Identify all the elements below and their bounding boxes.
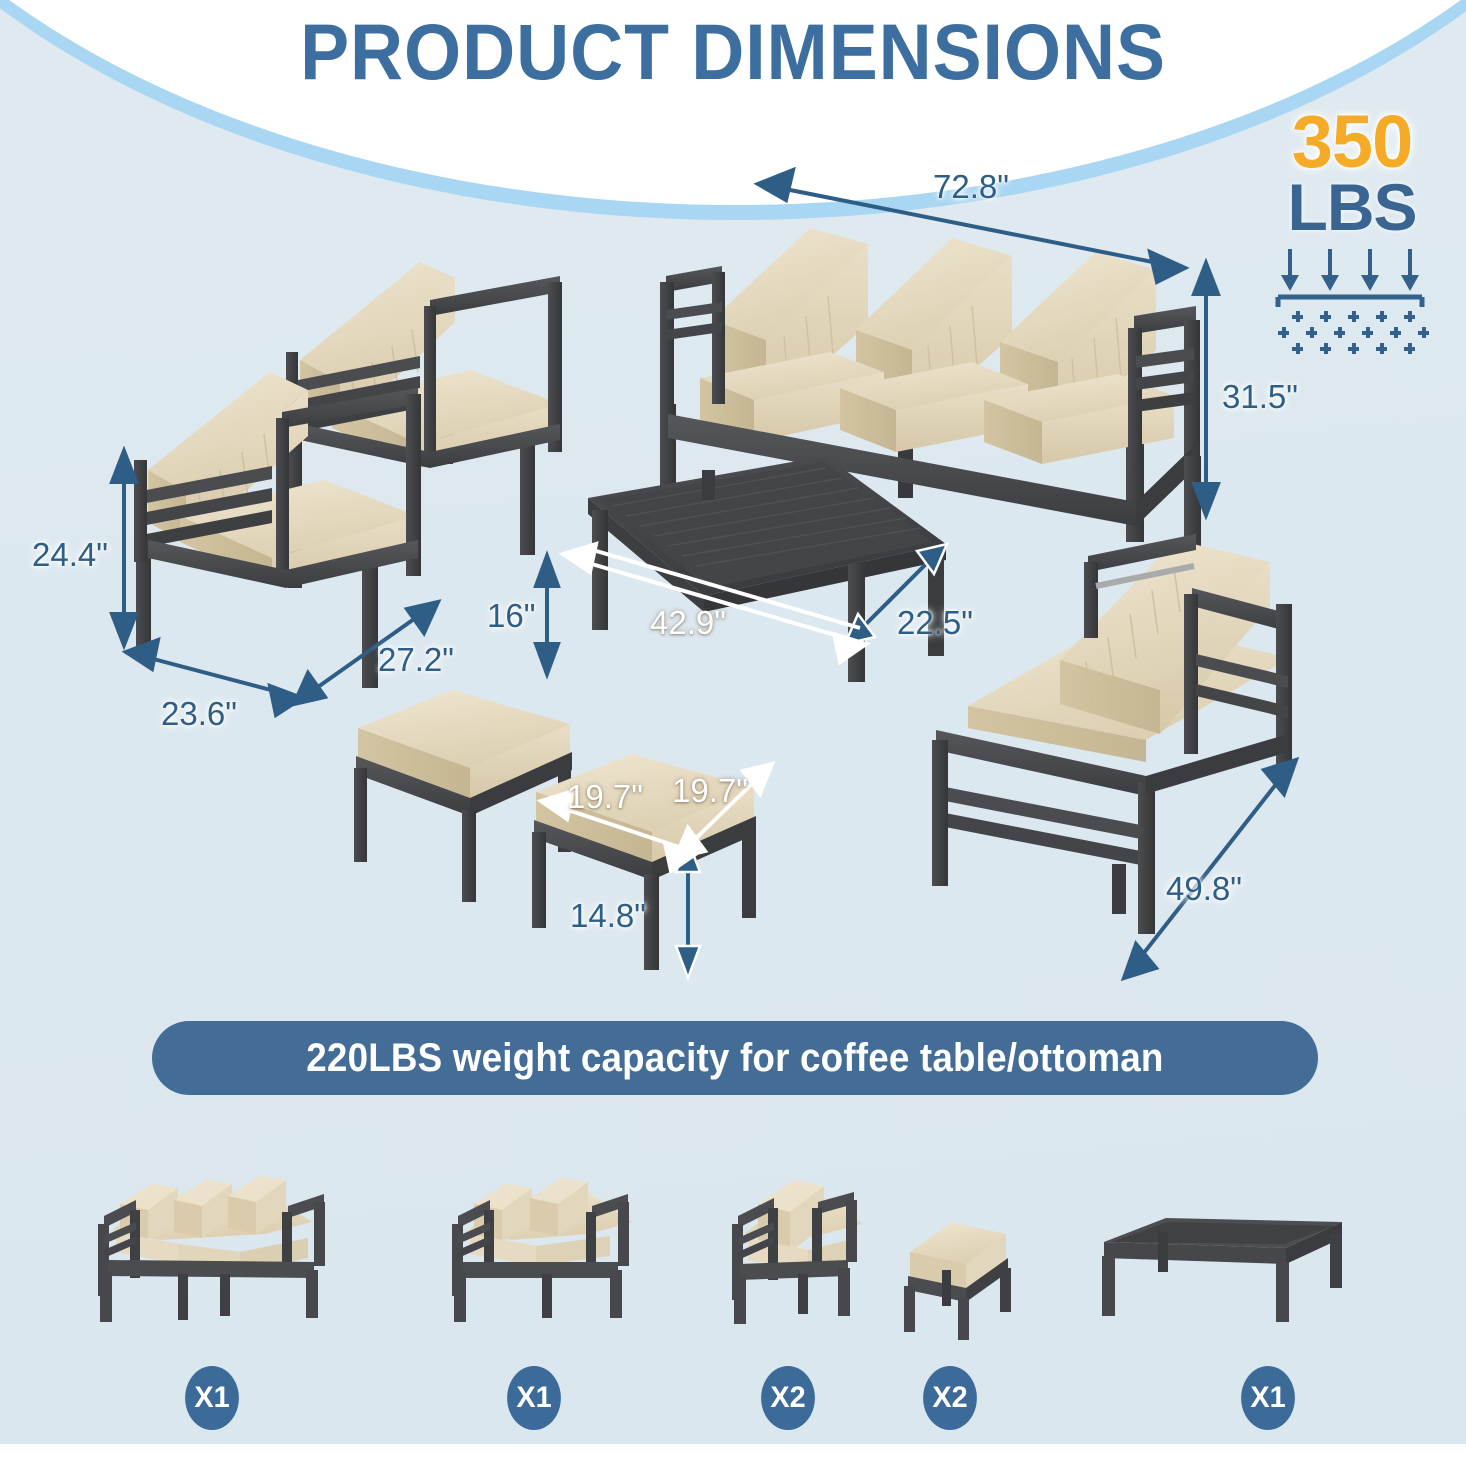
weight-badge-number: 350 <box>1252 108 1452 176</box>
weight-capacity-banner: 220LBS weight capacity for coffee table/… <box>152 1021 1318 1095</box>
dim-label-table-width: 42.9" <box>650 604 726 642</box>
ottoman-thumbnail-icon <box>890 1160 1040 1340</box>
dim-label-ottoman-depth: 19.7" <box>672 772 748 810</box>
sofa-thumbnail-icon <box>60 1160 380 1340</box>
set-item-coffee-table: X1 <box>1080 1160 1370 1345</box>
set-item-ottoman: X2 <box>890 1160 1040 1345</box>
weight-capacity-text: 220LBS weight capacity for coffee table/… <box>306 1036 1163 1081</box>
weight-badge-unit: LBS <box>1252 176 1452 239</box>
coffee-table-thumbnail-icon <box>1080 1160 1370 1340</box>
dim-label-chair-width: 23.6" <box>161 695 237 733</box>
dim-label-table-height: 16" <box>487 597 535 635</box>
qty-badge-armchair: X2 <box>761 1366 815 1430</box>
dim-label-chair-depth: 27.2" <box>378 641 454 679</box>
dim-label-chair-height: 24.4" <box>32 536 108 574</box>
qty-badge-sofa: X1 <box>185 1366 239 1430</box>
product-dimensions-infographic: PRODUCT DIMENSIONS 350 LBS <box>0 0 1466 1466</box>
qty-badge-loveseat: X1 <box>507 1366 561 1430</box>
set-contents-row: X1 <box>0 1160 1466 1450</box>
load-arrows-icon <box>1252 245 1452 366</box>
dim-label-ottoman-width: 19.7" <box>567 778 643 816</box>
weight-capacity-badge: 350 LBS <box>1252 108 1452 366</box>
set-item-armchair: X2 <box>700 1160 890 1345</box>
loveseat-thumbnail-icon <box>420 1160 670 1340</box>
set-item-loveseat: X1 <box>420 1160 670 1345</box>
dim-label-sofa-width: 72.8" <box>933 168 1009 206</box>
qty-badge-ottoman: X2 <box>923 1366 977 1430</box>
armchair-thumbnail-icon <box>700 1160 890 1340</box>
qty-badge-coffee-table: X1 <box>1241 1366 1295 1430</box>
dim-label-table-depth: 22.5" <box>897 604 973 642</box>
page-title: PRODUCT DIMENSIONS <box>51 6 1414 98</box>
set-item-sofa: X1 <box>60 1160 380 1345</box>
dim-label-loveseat-depth: 49.8" <box>1166 870 1242 908</box>
dim-label-ottoman-height: 14.8" <box>570 897 646 935</box>
dim-label-sofa-height: 31.5" <box>1222 378 1298 416</box>
